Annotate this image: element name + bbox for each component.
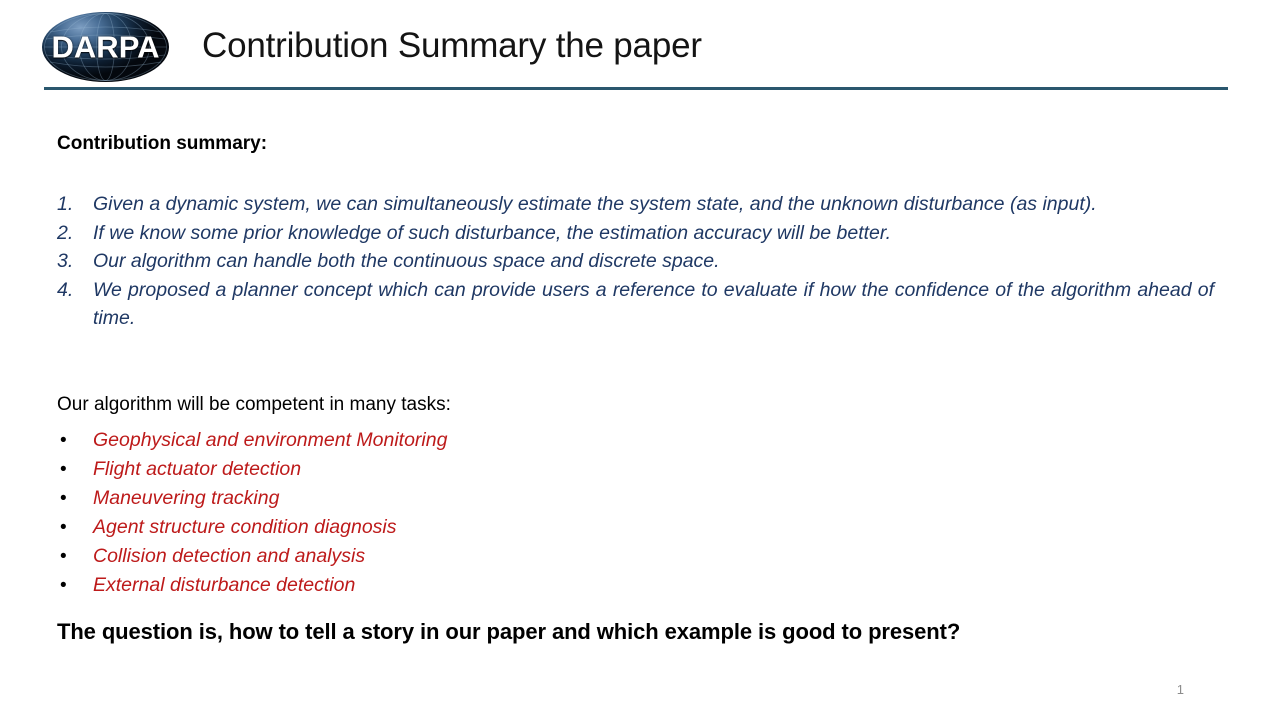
list-item-text: Agent structure condition diagnosis bbox=[93, 516, 397, 538]
list-item-text: Collision detection and analysis bbox=[93, 545, 365, 567]
contribution-numbered-list: 1. Given a dynamic system, we can simult… bbox=[57, 190, 1214, 333]
list-item-text: If we know some prior knowledge of such … bbox=[93, 222, 891, 244]
bullet-icon: • bbox=[60, 426, 67, 455]
list-item: • Geophysical and environment Monitoring bbox=[57, 426, 957, 455]
bullet-icon: • bbox=[60, 484, 67, 513]
list-item-text: Given a dynamic system, we can simultane… bbox=[93, 193, 1097, 215]
darpa-logo: DARPA bbox=[42, 12, 169, 82]
list-item-number: 3. bbox=[57, 247, 85, 276]
list-item-text: We proposed a planner concept which can … bbox=[93, 279, 1214, 330]
contribution-summary-heading: Contribution summary: bbox=[57, 132, 267, 156]
slide-header: DARPA Contribution Summary the paper bbox=[0, 0, 1280, 96]
bullet-icon: • bbox=[60, 513, 67, 542]
tasks-lead-text: Our algorithm will be competent in many … bbox=[57, 393, 451, 417]
bullet-icon: • bbox=[60, 571, 67, 600]
list-item: • Flight actuator detection bbox=[57, 455, 957, 484]
list-item-text: External disturbance detection bbox=[93, 574, 355, 596]
header-divider bbox=[44, 87, 1228, 90]
bullet-icon: • bbox=[60, 455, 67, 484]
list-item: 2. If we know some prior knowledge of su… bbox=[57, 219, 1214, 248]
list-item-number: 4. bbox=[57, 276, 85, 305]
list-item-text: Flight actuator detection bbox=[93, 458, 301, 480]
list-item: 4. We proposed a planner concept which c… bbox=[57, 276, 1214, 333]
list-item: • Maneuvering tracking bbox=[57, 484, 957, 513]
slide-body: Contribution summary: 1. Given a dynamic… bbox=[0, 96, 1280, 720]
closing-question: The question is, how to tell a story in … bbox=[57, 618, 960, 646]
tasks-bullet-list: • Geophysical and environment Monitoring… bbox=[57, 426, 957, 600]
list-item: • Collision detection and analysis bbox=[57, 542, 957, 571]
page-number: 1 bbox=[1177, 682, 1184, 698]
list-item: 1. Given a dynamic system, we can simult… bbox=[57, 190, 1214, 219]
page-title: Contribution Summary the paper bbox=[202, 22, 702, 70]
list-item-number: 2. bbox=[57, 219, 85, 248]
list-item-text: Our algorithm can handle both the contin… bbox=[93, 250, 720, 272]
list-item-text: Geophysical and environment Monitoring bbox=[93, 429, 447, 451]
list-item: • Agent structure condition diagnosis bbox=[57, 513, 957, 542]
darpa-wordmark: DARPA bbox=[42, 32, 169, 63]
list-item-text: Maneuvering tracking bbox=[93, 487, 279, 509]
list-item: 3. Our algorithm can handle both the con… bbox=[57, 247, 1214, 276]
list-item-number: 1. bbox=[57, 190, 85, 219]
list-item: • External disturbance detection bbox=[57, 571, 957, 600]
bullet-icon: • bbox=[60, 542, 67, 571]
slide: DARPA Contribution Summary the paper Con… bbox=[0, 0, 1280, 720]
